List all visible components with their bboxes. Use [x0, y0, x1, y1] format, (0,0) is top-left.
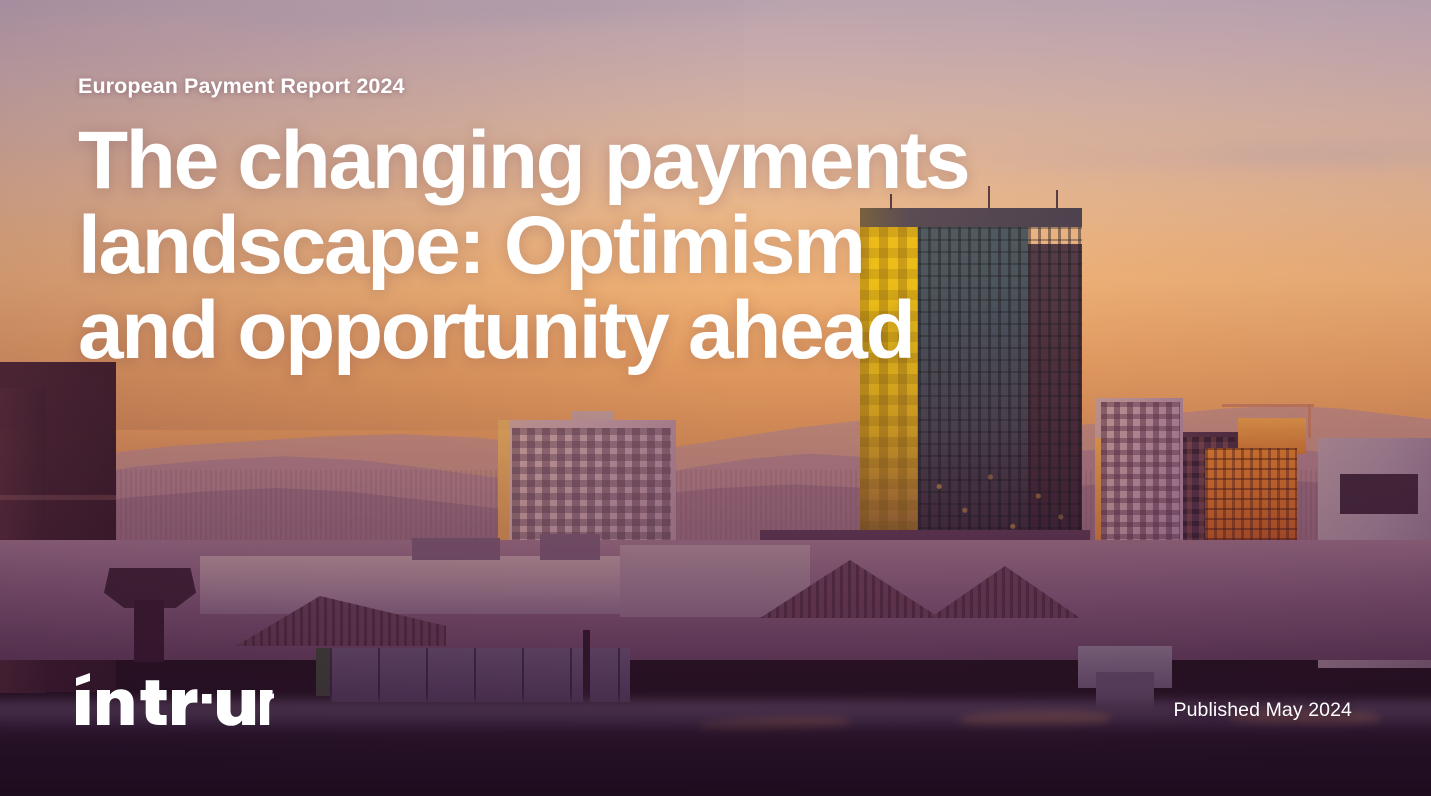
report-series-label: European Payment Report 2024 — [78, 74, 405, 99]
rooftop-vent-stack — [134, 600, 164, 662]
intrum-wordmark-icon — [74, 672, 274, 726]
report-cover-page: European Payment Report 2024 The changin… — [0, 0, 1431, 796]
roof-antenna — [1056, 190, 1058, 210]
foreground-pole — [583, 630, 590, 708]
page-title: The changing payments landscape: Optimis… — [78, 118, 1018, 373]
page-title-line-2: landscape: Optimism — [78, 203, 1018, 288]
intrum-logo — [74, 672, 274, 726]
publication-date: Published May 2024 — [1174, 699, 1353, 722]
page-title-line-1: The changing payments — [78, 118, 1018, 203]
construction-crane-mast — [1308, 404, 1311, 438]
left-building-ledge — [0, 495, 116, 500]
blurred-foreground-shadow — [0, 726, 1431, 796]
rooftop-hvac-unit — [412, 538, 500, 560]
rooftop-hvac-unit — [540, 534, 600, 560]
window-grid — [512, 428, 671, 544]
cloud-streak — [30, 22, 290, 36]
sunlit-edge — [498, 420, 509, 548]
construction-crane-jib — [1222, 404, 1314, 407]
pale-apartment-tower — [498, 420, 676, 548]
window — [1340, 474, 1418, 514]
page-title-line-3: and opportunity ahead — [78, 288, 1018, 373]
